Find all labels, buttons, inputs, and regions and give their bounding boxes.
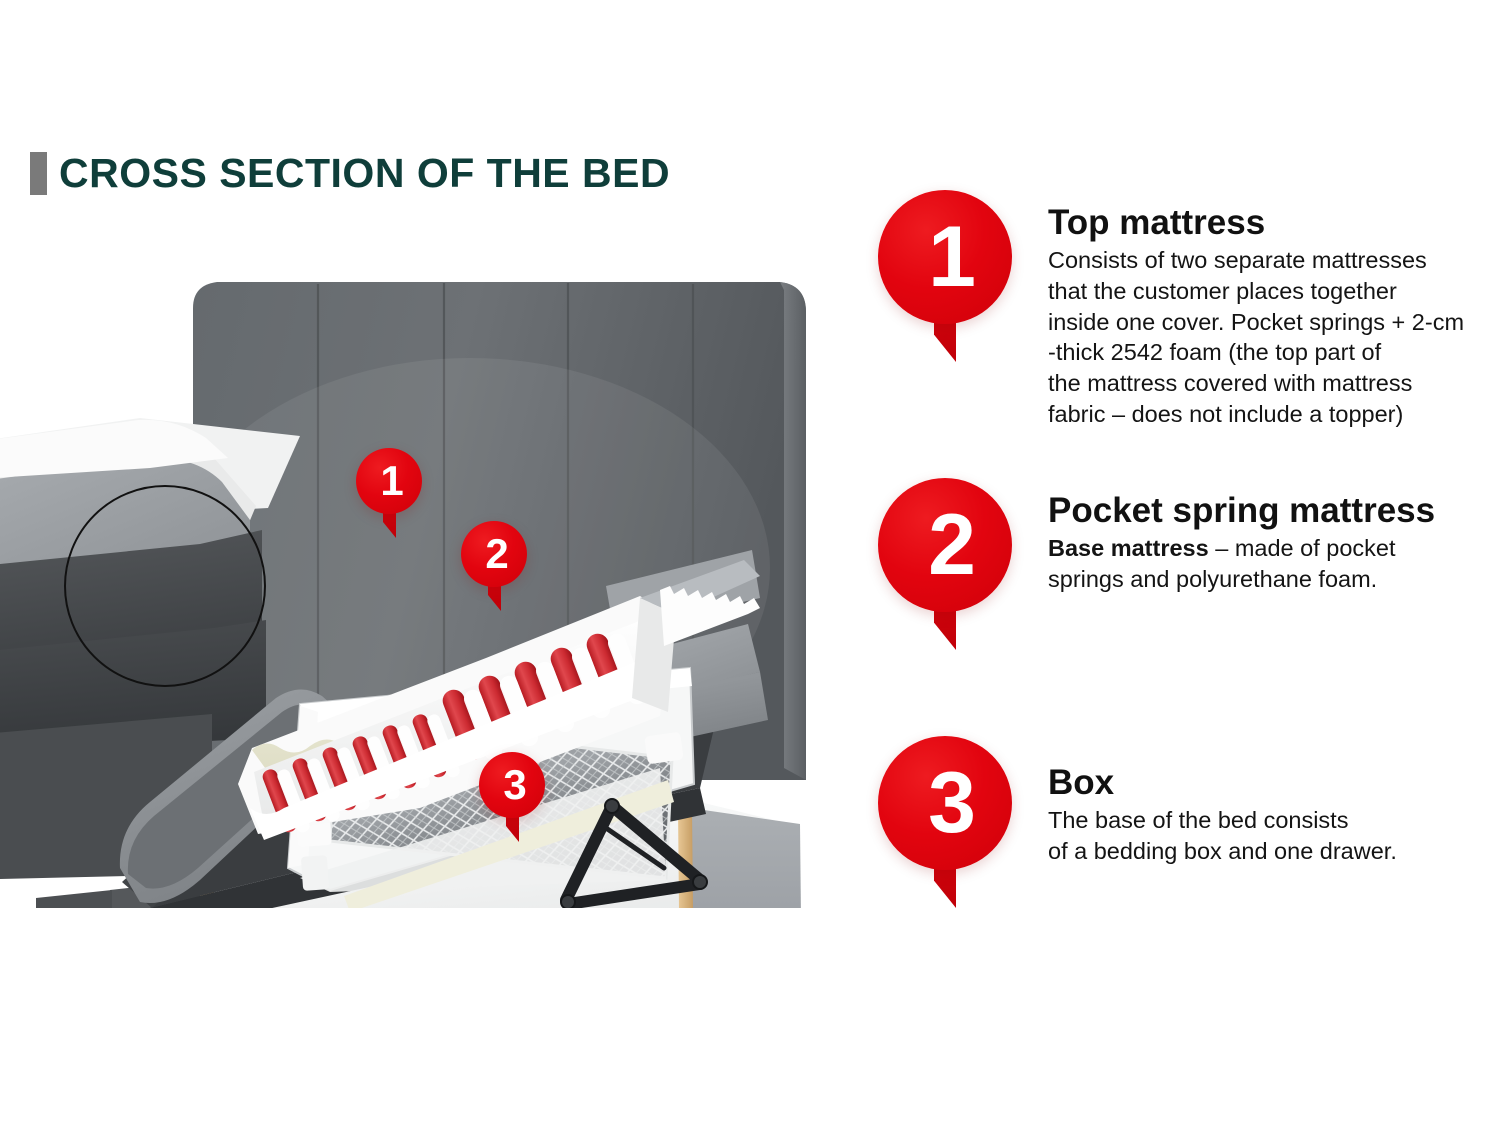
bed-cutaway-illustration: 1 2 3 [0,268,850,908]
page-title-text: CROSS SECTION OF THE BED [59,153,670,194]
legend-desc-2: Base mattress – made of pocket springs a… [1048,533,1500,595]
illustration-marker-3[interactable]: 3 [479,752,551,844]
desc-line: – made of pocket [1209,535,1396,561]
map-pin-icon: 1 [356,448,428,540]
legend-title-1: Top mattress [1048,204,1500,241]
title-accent-bar [30,152,47,195]
desc-line: that the customer places together [1048,278,1397,304]
map-pin-icon: 1 [878,190,1026,368]
desc-line: springs and polyurethane foam. [1048,566,1377,592]
desc-line: of a bedding box and one drawer. [1048,838,1397,864]
map-pin-icon: 2 [461,521,533,613]
legend-desc-3: The base of the bed consists of a beddin… [1048,805,1500,867]
pin-number: 3 [878,736,1026,870]
legend-title-2: Pocket spring mattress [1048,492,1500,529]
desc-line: Consists of two separate mattresses [1048,247,1427,273]
illustration-marker-2[interactable]: 2 [461,521,533,613]
desc-line: the mattress covered with mattress [1048,370,1412,396]
map-pin-icon: 3 [878,736,1026,914]
legend-pin-2: 2 [878,478,1026,656]
desc-line: The base of the bed consists [1048,807,1348,833]
illustration-marker-1[interactable]: 1 [356,448,428,540]
legend-pin-3: 3 [878,736,1026,914]
map-pin-icon: 2 [878,478,1026,656]
legend-pin-1: 1 [878,190,1026,368]
pin-number: 2 [878,478,1026,612]
page-title: CROSS SECTION OF THE BED [30,152,670,195]
desc-line: -thick 2542 foam (the top part of [1048,339,1381,365]
desc-line: inside one cover. Pocket springs + 2-cm [1048,309,1464,335]
desc-bold: Base mattress [1048,535,1209,561]
desc-line: fabric – does not include a topper) [1048,401,1403,427]
pin-number: 2 [461,521,533,587]
pin-number: 1 [878,190,1026,324]
pin-number: 1 [356,448,428,514]
legend-title-3: Box [1048,764,1500,801]
pin-number: 3 [479,752,551,818]
map-pin-icon: 3 [479,752,551,844]
infographic-canvas: CROSS SECTION OF THE BED [0,0,1500,1125]
legend-desc-1: Consists of two separate mattresses that… [1048,245,1500,430]
